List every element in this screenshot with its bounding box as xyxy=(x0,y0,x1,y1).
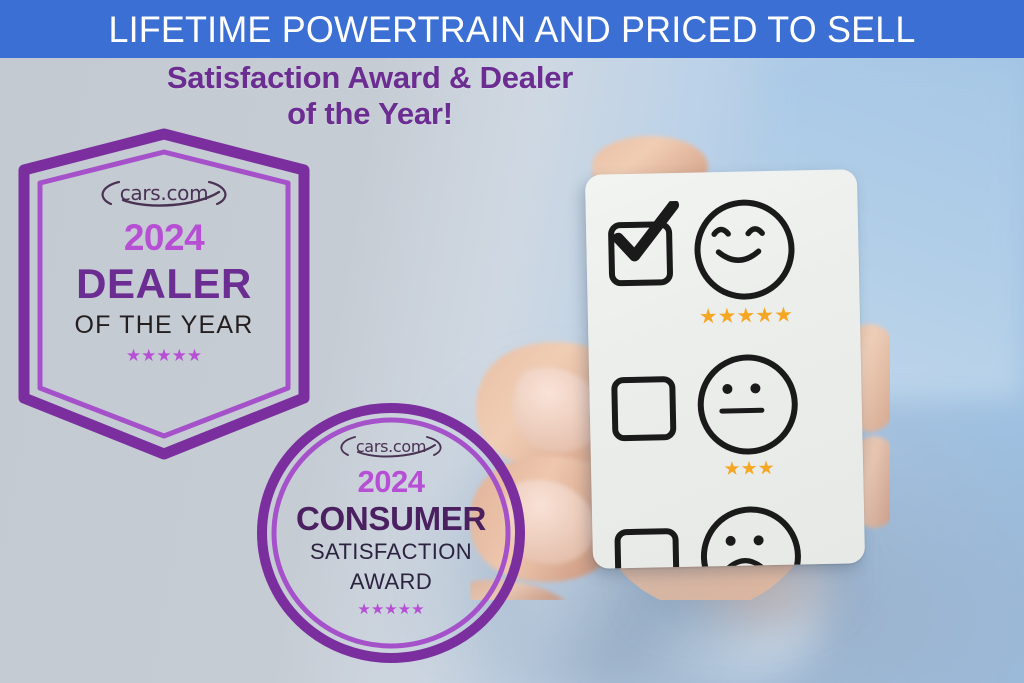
dealer-badge-year: 2024 xyxy=(124,219,204,256)
headline-line-1: Satisfaction Award & Dealer xyxy=(167,60,573,95)
consumer-satisfaction-award-badge: cars.com 2024 CONSUMER SATISFACTION AWAR… xyxy=(256,402,526,664)
headline-line-2: of the Year! xyxy=(80,96,660,132)
consumer-badge-subtitle-line-2: AWARD xyxy=(350,570,432,595)
rating-stars-neutral: ★★★ xyxy=(723,459,774,479)
survey-row-neutral: ★★★ xyxy=(611,352,850,481)
dealer-badge-stars: ★★★★★ xyxy=(126,347,202,364)
banner-headline-text: LIFETIME POWERTRAIN AND PRICED TO SELL xyxy=(108,11,915,48)
sad-face-icon xyxy=(700,505,802,568)
cars-com-logo: cars.com xyxy=(331,432,451,460)
page-title: Satisfaction Award & Dealer of the Year! xyxy=(80,60,660,133)
rating-stars-happy: ★★★★★ xyxy=(699,305,794,328)
consumer-badge-subtitle-line-1: SATISFACTION xyxy=(310,540,472,565)
dealer-badge-subtitle: OF THE YEAR xyxy=(75,313,254,338)
dealer-badge-title: DEALER xyxy=(76,263,252,305)
survey-row-happy: ★★★★★ xyxy=(607,197,846,329)
consumer-badge-year: 2024 xyxy=(358,466,425,497)
checkbox-neutral[interactable] xyxy=(611,376,676,441)
cars-com-logo: cars.com xyxy=(89,176,239,210)
cars-com-logo-text: cars.com xyxy=(120,181,209,205)
happy-face-icon xyxy=(693,199,795,301)
consumer-badge-stars: ★★★★★ xyxy=(357,602,424,617)
checkmark-icon xyxy=(607,201,682,271)
top-banner: LIFETIME POWERTRAIN AND PRICED TO SELL xyxy=(0,0,1024,58)
cars-com-logo-text: cars.com xyxy=(356,437,426,456)
neutral-face-icon xyxy=(697,353,799,455)
checkbox-happy[interactable] xyxy=(608,221,673,286)
consumer-badge-title: CONSUMER xyxy=(296,502,486,535)
survey-feedback-card: ★★★★★ ★★★ xyxy=(585,169,865,569)
survey-row-sad: ★ xyxy=(614,504,853,568)
checkbox-sad[interactable] xyxy=(614,528,679,569)
promotional-banner-image: LIFETIME POWERTRAIN AND PRICED TO SELL S… xyxy=(0,0,1024,683)
